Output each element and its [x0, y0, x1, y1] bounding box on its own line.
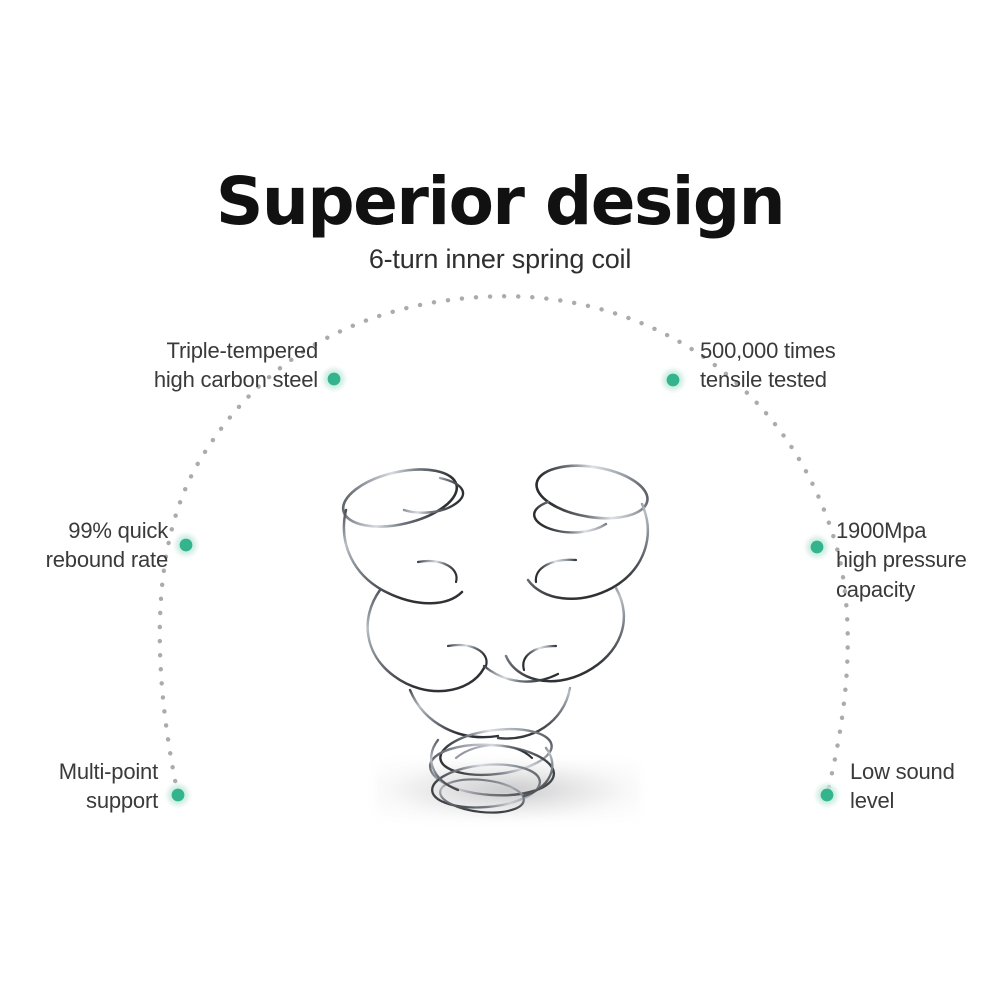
callout-line: level — [850, 786, 990, 815]
marker-99-percent-quick-rebound-rate[interactable] — [172, 531, 200, 559]
callout-line: Multi-point — [18, 757, 158, 786]
spring-coil-illustration — [320, 440, 690, 840]
callout-line: Triple-tempered — [118, 336, 318, 365]
infographic-canvas: Superior design 6-turn inner spring coil — [0, 0, 1000, 1000]
callout-label-low-sound-level: Low sound level — [850, 757, 990, 816]
callout-label-triple-tempered-high-carbon-steel: Triple-tempered high carbon steel — [118, 336, 318, 395]
callout-line: capacity — [836, 575, 1000, 604]
callout-line: rebound rate — [18, 545, 168, 574]
callout-line: Low sound — [850, 757, 990, 786]
callout-label-99-percent-quick-rebound-rate: 99% quick rebound rate — [18, 516, 168, 575]
callout-line: high carbon steel — [118, 365, 318, 394]
callout-line: tensile tested — [700, 365, 920, 394]
marker-multi-point-support[interactable] — [164, 781, 192, 809]
callout-label-1900mpa-high-pressure-capacity: 1900Mpa high pressure capacity — [836, 516, 1000, 604]
spring-coil-svg — [320, 440, 690, 840]
callout-line: support — [18, 786, 158, 815]
callout-line: high pressure — [836, 545, 1000, 574]
callout-label-multi-point-support: Multi-point support — [18, 757, 158, 816]
marker-1900mpa-high-pressure-capacity[interactable] — [803, 533, 831, 561]
marker-low-sound-level[interactable] — [813, 781, 841, 809]
marker-500000-times-tensile-tested[interactable] — [659, 366, 687, 394]
callout-line: 1900Mpa — [836, 516, 1000, 545]
callout-line: 500,000 times — [700, 336, 920, 365]
marker-triple-tempered-high-carbon-steel[interactable] — [320, 365, 348, 393]
callout-line: 99% quick — [18, 516, 168, 545]
callout-label-500000-times-tensile-tested: 500,000 times tensile tested — [700, 336, 920, 395]
